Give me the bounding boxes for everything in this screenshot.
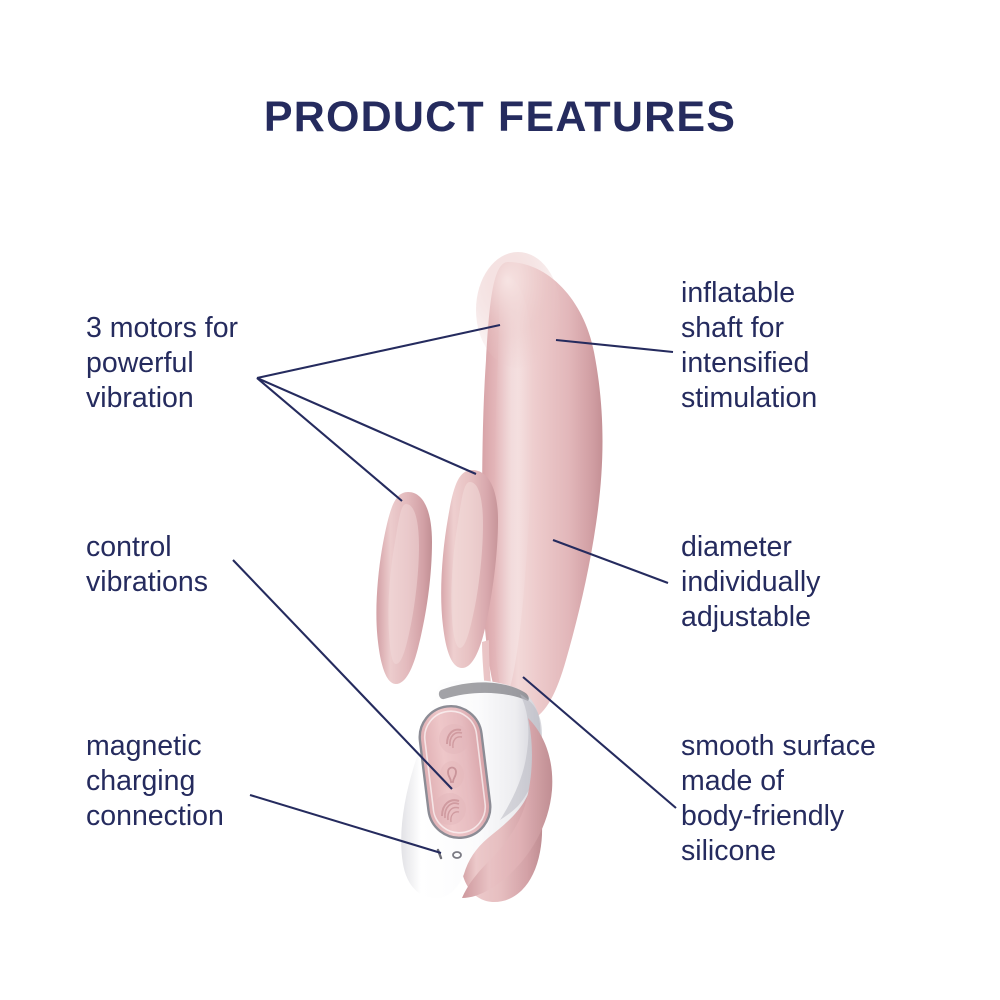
- callout-control-vibrations: control vibrations: [86, 530, 316, 600]
- wave-icon[interactable]: [439, 724, 469, 754]
- callout-smooth-surface-made-of-body-friendly-silicone: smooth surface made of body-friendly sil…: [681, 729, 961, 869]
- wave-icon[interactable]: [434, 793, 466, 825]
- product-features-infographic: PRODUCT FEATURES: [0, 0, 1000, 1000]
- callout-diameter-individually-adjustable: diameter individually adjustable: [681, 530, 951, 635]
- power-bulb-icon[interactable]: [440, 761, 464, 789]
- callout-inflatable-shaft-for-intensified-stimulation: inflatable shaft for intensified stimula…: [681, 276, 941, 416]
- callout-3-motors-for-powerful-vibration: 3 motors for powerful vibration: [86, 311, 316, 416]
- product-shaft-tip-gloss: [476, 252, 560, 368]
- callout-magnetic-charging-connection: magnetic charging connection: [86, 729, 326, 834]
